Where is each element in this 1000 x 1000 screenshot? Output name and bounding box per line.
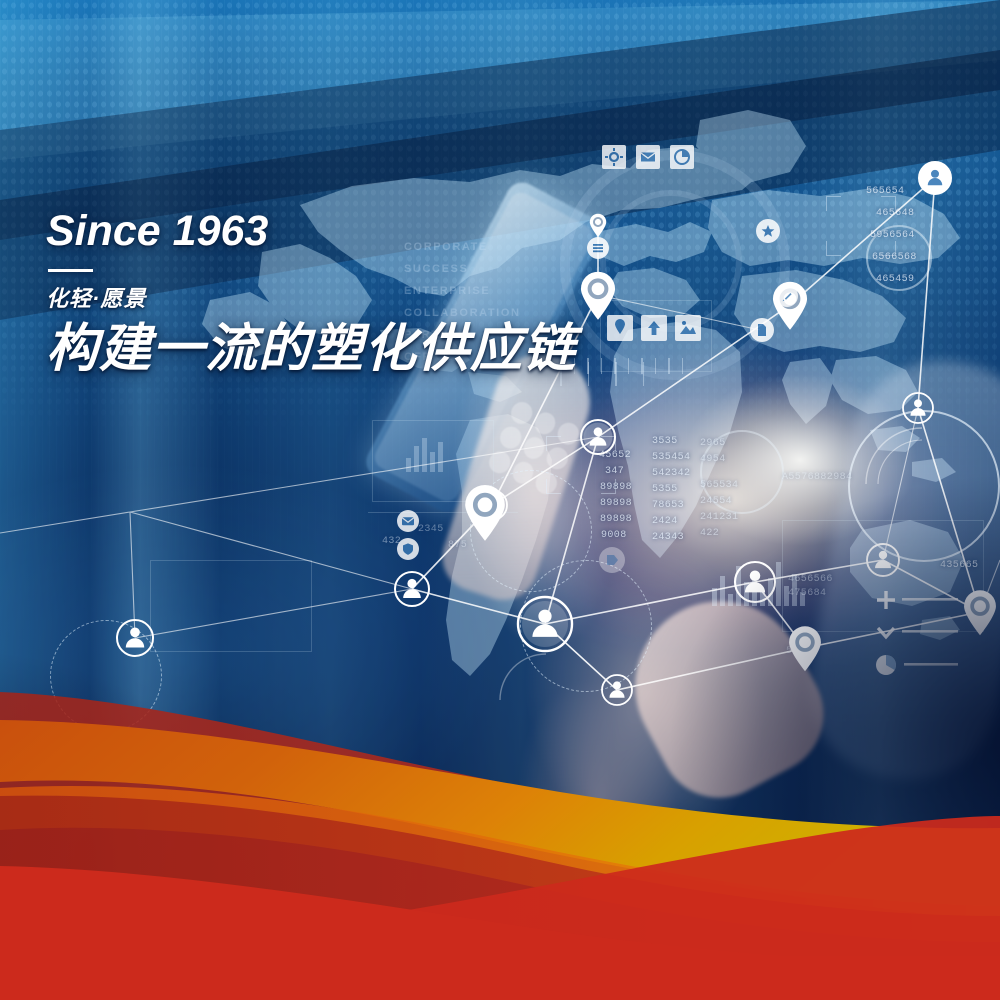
subtitle-text: 化轻·愿景 [46,281,576,313]
banner-root: CORPORATE SUCCESS ENTERPRISE COLLABORATI… [0,0,1000,1000]
main-headline-text: 构建一流的塑化供应链 [46,322,576,376]
eyebrow-since-text: Since 1963 [46,210,576,253]
divider-rule [48,269,93,272]
footer-solid-red [0,956,1000,1000]
headline-block: Since 1963 化轻·愿景 构建一流的塑化供应链 [46,210,576,376]
wave-graphic-footer [0,670,1000,1000]
